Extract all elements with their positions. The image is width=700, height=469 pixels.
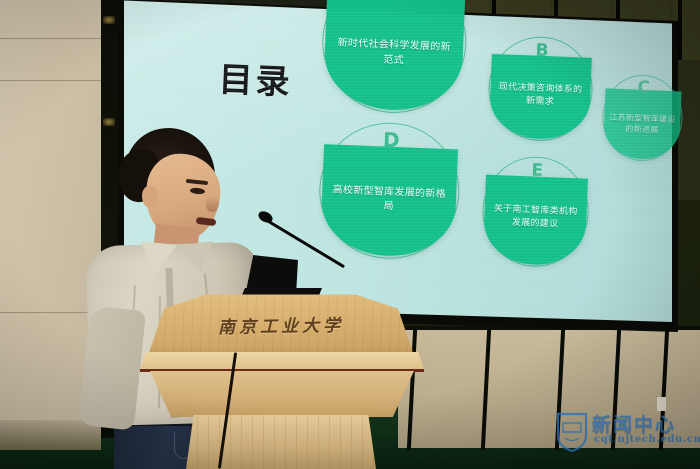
wall-seam xyxy=(0,38,101,39)
bubble-caption: 高校新型智库发展的新格局 xyxy=(330,183,449,217)
wall-light-glow xyxy=(103,16,115,24)
university-shield-icon xyxy=(556,412,588,452)
agenda-bubble-e: E 关于南工智库类机构发展的建议 xyxy=(480,155,590,269)
speaker-ear xyxy=(142,186,157,208)
bubble-letter: B xyxy=(490,39,595,63)
bubble-caption: 新时代社会科学发展的新范式 xyxy=(333,37,455,71)
wood-grain xyxy=(186,415,376,469)
photo-scene: 目录 A 新时代社会科学发展的新范式 B 现代决策咨询体系的新需求 C 江苏新型… xyxy=(0,0,700,469)
agenda-bubble-b: B 现代决策咨询体系的新需求 xyxy=(486,35,594,143)
agenda-bubble-c: C 江苏新型智库建设的新进展 xyxy=(601,73,684,162)
agenda-bubble-a: A 新时代社会科学发展的新范式 xyxy=(320,0,470,116)
wall-light-glow xyxy=(103,118,115,126)
bubble-letter: E xyxy=(484,159,591,183)
watermark-name: 新闻中心 xyxy=(592,410,676,437)
wall-switch-plate xyxy=(657,397,666,411)
watermark: 新闻中心 cqt.njtech.edu.cn xyxy=(556,410,696,458)
wall-seam xyxy=(0,80,101,81)
bubble-letter: C xyxy=(603,77,684,100)
agenda-bubble-d: D 高校新型智库发展的新格局 xyxy=(317,120,462,262)
bubble-caption: 江苏新型智库建设的新进展 xyxy=(608,111,676,137)
slide-title: 目录 xyxy=(218,52,294,104)
podium-desk-edge xyxy=(140,352,424,370)
podium-body xyxy=(150,371,414,417)
podium-base xyxy=(186,415,376,469)
podium-inscription: 南京工业大学 xyxy=(176,310,386,339)
watermark-url: cqt.njtech.edu.cn xyxy=(594,434,700,445)
bubble-caption: 现代决策咨询体系的新需求 xyxy=(496,81,584,111)
bubble-caption: 关于南工智库类机构发展的建议 xyxy=(490,203,580,233)
panel-divider xyxy=(481,328,491,450)
